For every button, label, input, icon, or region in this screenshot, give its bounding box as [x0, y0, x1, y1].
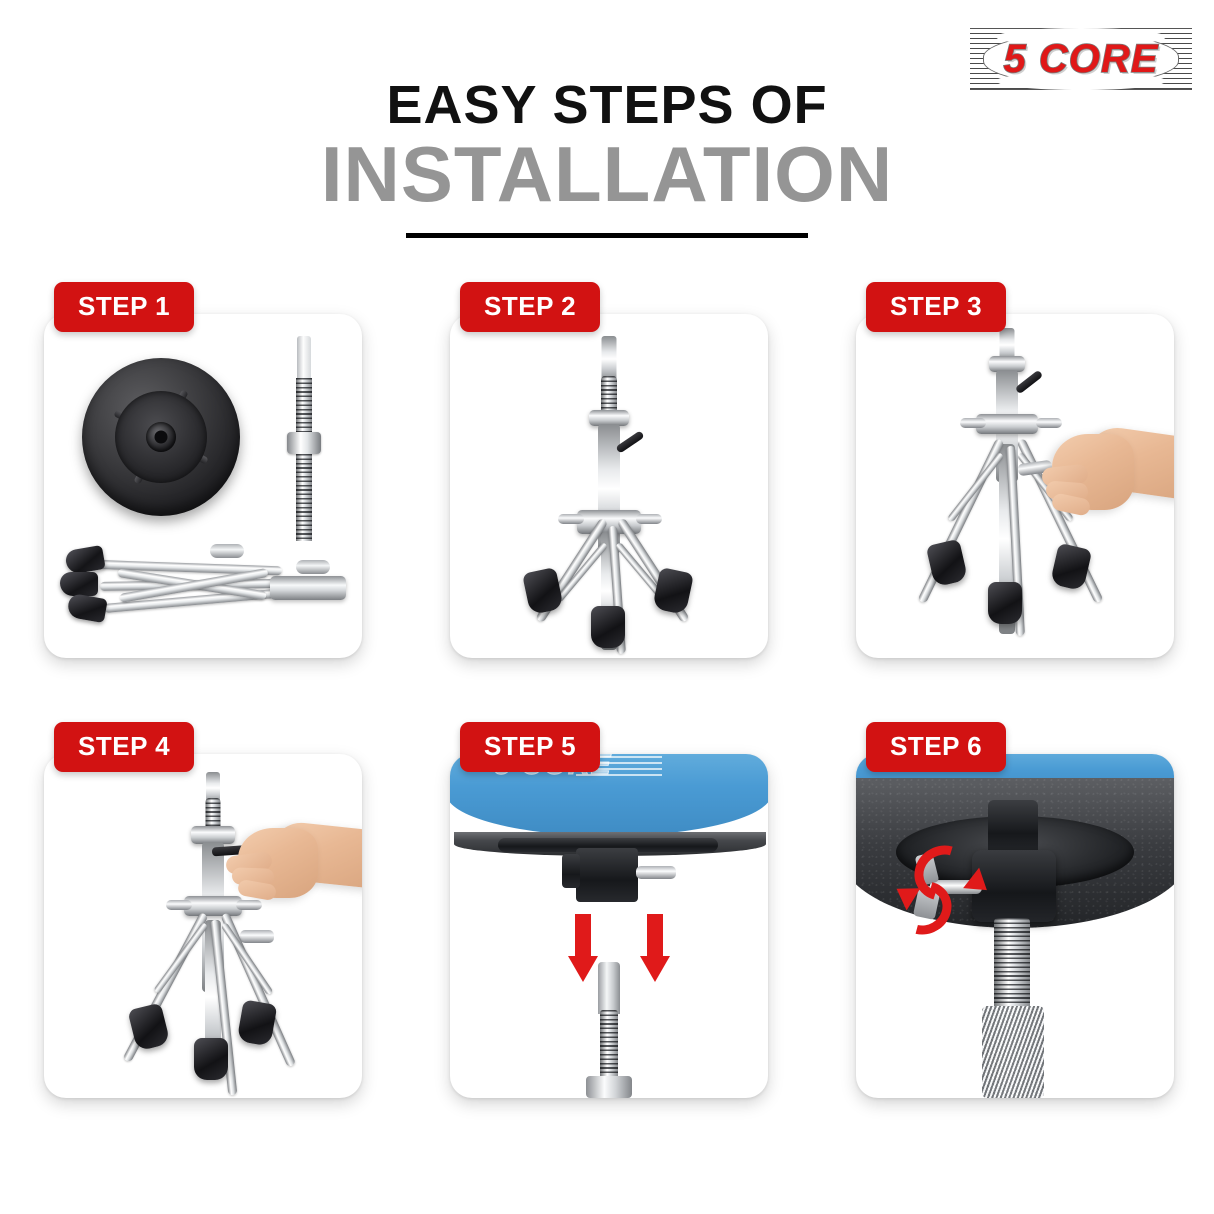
step-3-illustration: [856, 314, 1174, 658]
step-card-5: 5 CORE: [450, 754, 768, 1098]
step-badge-5: STEP 5: [460, 722, 600, 772]
steps-grid: STEP 1: [44, 314, 1174, 1098]
step-badge-6: STEP 6: [866, 722, 1006, 772]
brand-logo: 5 CORE: [970, 28, 1192, 90]
step-badge-2: STEP 2: [460, 282, 600, 332]
step-panel-5: 5 CORE: [450, 754, 768, 1098]
step-6-illustration: [856, 754, 1174, 1098]
step-card-1: STEP 1: [44, 314, 362, 658]
step-panel-4: [44, 754, 362, 1098]
step-card-4: STEP 4: [44, 754, 362, 1098]
step-panel-3: [856, 314, 1174, 658]
step-panel-6: [856, 754, 1174, 1098]
page-title: EASY STEPS OF INSTALLATION: [0, 78, 1214, 238]
seat-mounting-plate-icon: [82, 358, 240, 516]
step-panel-1: [44, 314, 362, 658]
logo-text: 5 CORE: [970, 28, 1192, 90]
step-badge-3: STEP 3: [866, 282, 1006, 332]
step-panel-2: [450, 314, 768, 658]
knurled-collar-icon: [982, 1006, 1044, 1098]
tripod-stand-icon: [54, 754, 362, 1098]
step-5-illustration: 5 CORE: [450, 754, 768, 1098]
threaded-screw-rod-icon: [294, 336, 314, 541]
step-card-2: STEP 2: [450, 314, 768, 658]
step-1-illustration: [44, 314, 362, 658]
step-4-illustration: [44, 754, 362, 1098]
step-card-3: STEP 3: [856, 314, 1174, 658]
seat-wing-screw-icon: [636, 866, 676, 879]
step-badge-1: STEP 1: [54, 282, 194, 332]
step-card-6: STEP 6: [856, 754, 1174, 1098]
tripod-stand-icon: [450, 314, 768, 658]
title-underline: [406, 233, 808, 238]
step-2-illustration: [450, 314, 768, 658]
folded-tripod-icon: [60, 542, 346, 632]
step-badge-4: STEP 4: [54, 722, 194, 772]
title-line-installation: INSTALLATION: [0, 135, 1214, 215]
